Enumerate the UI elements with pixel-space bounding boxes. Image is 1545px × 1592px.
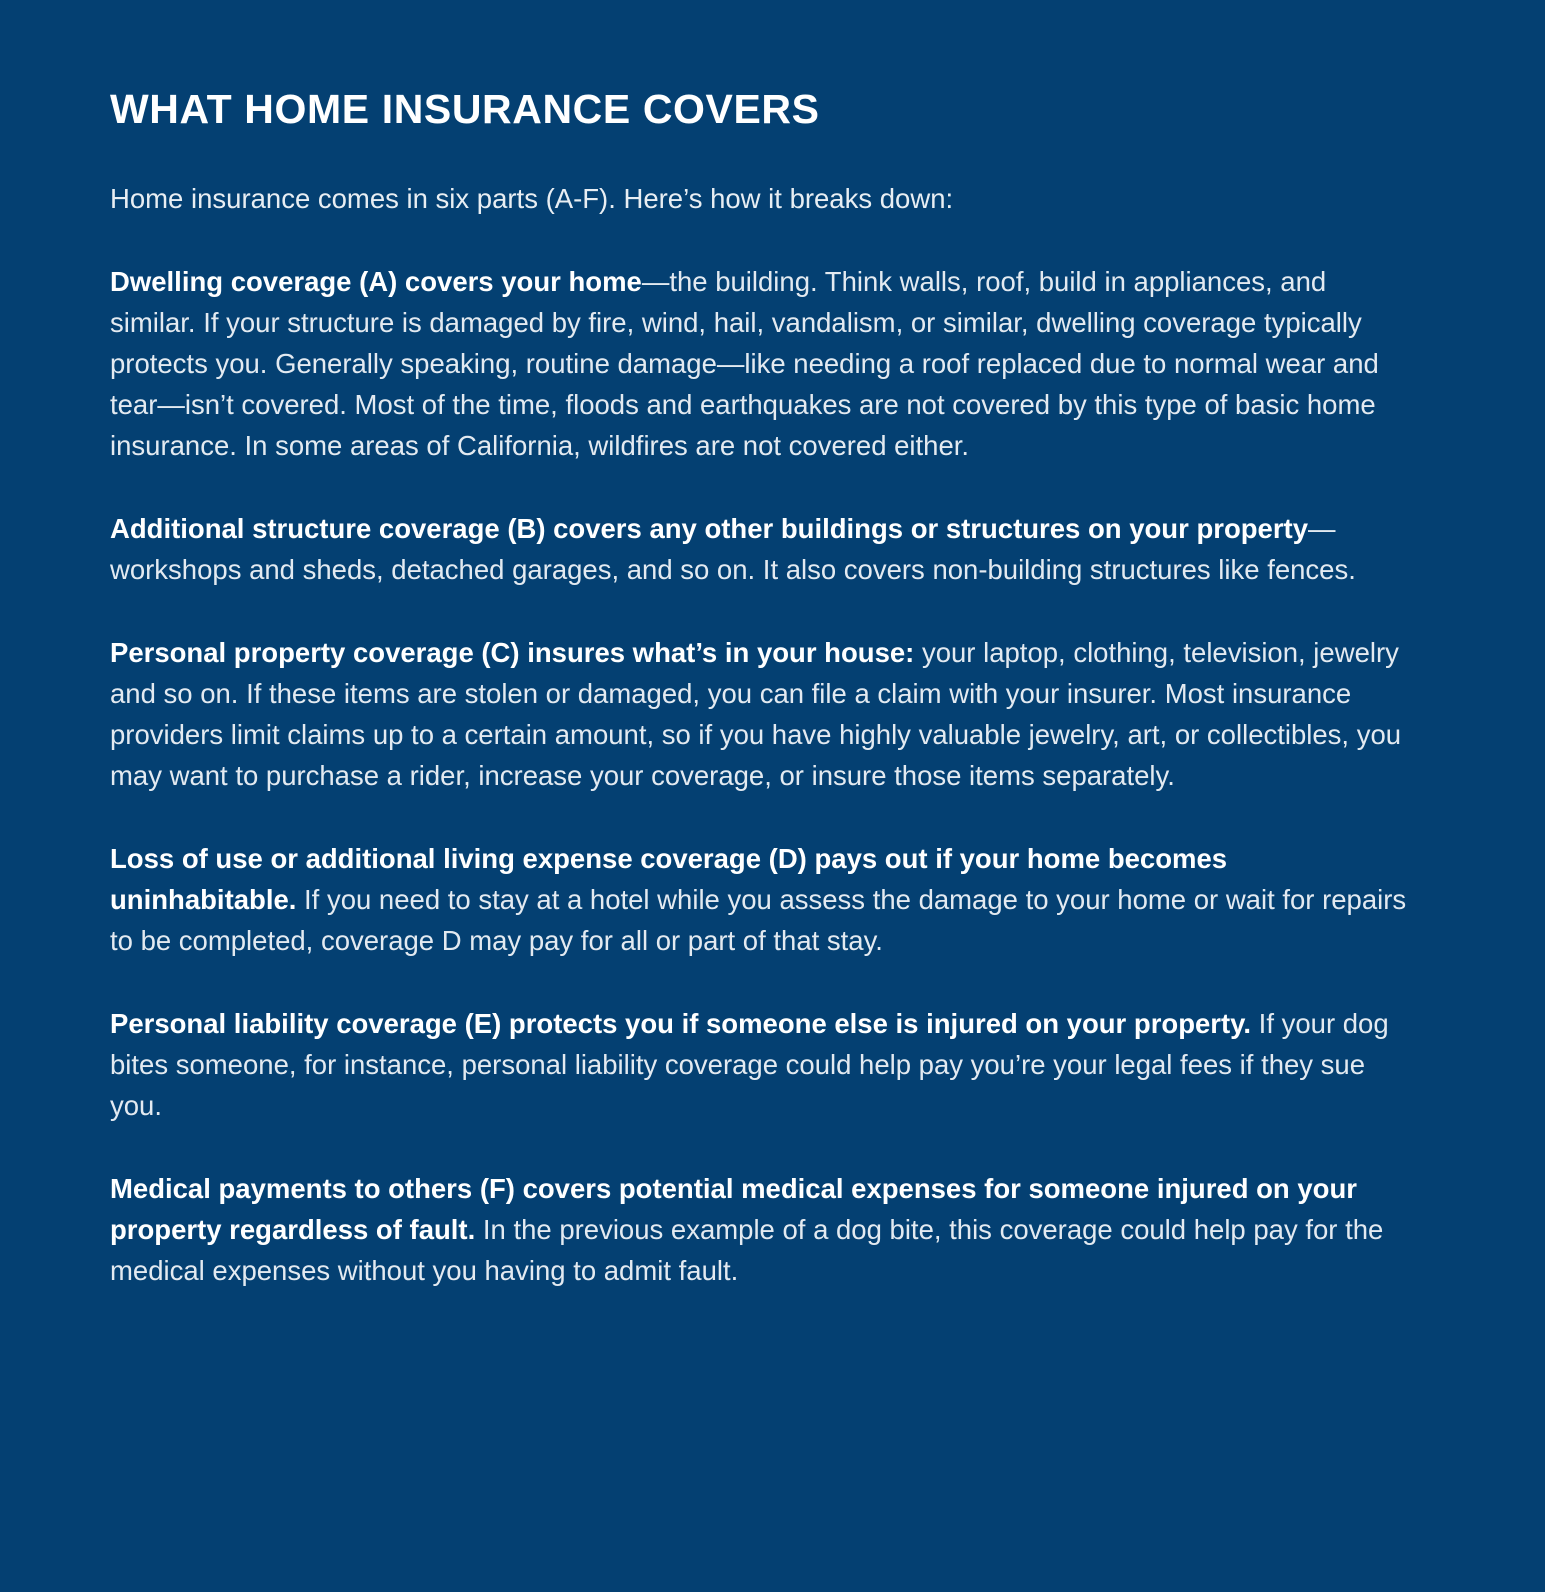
coverage-paragraph-a: Dwelling coverage (A) covers your home—t… <box>110 262 1410 467</box>
coverage-paragraph-c: Personal property coverage (C) insures w… <box>110 633 1410 797</box>
coverage-paragraph-f: Medical payments to others (F) covers po… <box>110 1169 1410 1292</box>
coverage-paragraph-b: Additional structure coverage (B) covers… <box>110 509 1410 591</box>
page-title: WHAT HOME INSURANCE COVERS <box>110 86 1410 133</box>
coverage-a-lead: Dwelling coverage (A) covers your home <box>110 266 642 297</box>
coverage-e-lead: Personal liability coverage (E) protects… <box>110 1008 1251 1039</box>
coverage-d-body: If you need to stay at a hotel while you… <box>110 884 1406 956</box>
coverage-b-lead: Additional structure coverage (B) covers… <box>110 513 1308 544</box>
coverage-paragraph-e: Personal liability coverage (E) protects… <box>110 1004 1410 1127</box>
coverage-c-lead: Personal property coverage (C) insures w… <box>110 637 914 668</box>
coverage-paragraph-d: Loss of use or additional living expense… <box>110 839 1410 962</box>
article-page: WHAT HOME INSURANCE COVERS Home insuranc… <box>0 0 1545 1592</box>
intro-paragraph: Home insurance comes in six parts (A-F).… <box>110 179 1410 218</box>
article-content: WHAT HOME INSURANCE COVERS Home insuranc… <box>110 86 1410 1292</box>
